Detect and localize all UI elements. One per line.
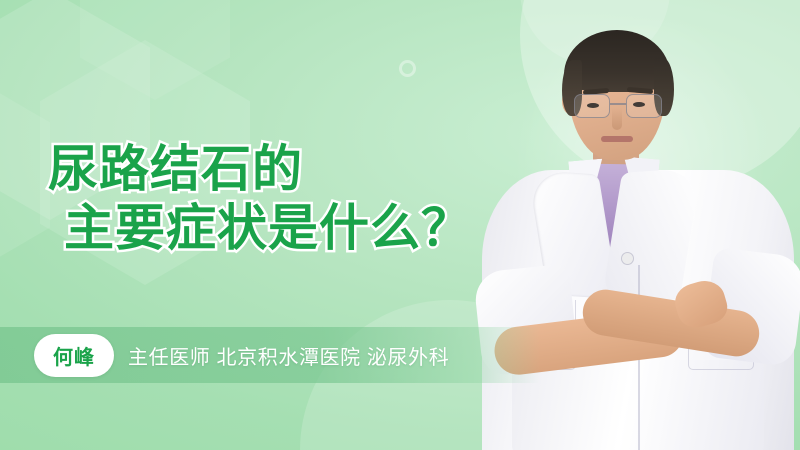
ring-decoration-icon [399, 60, 416, 77]
coat-button [622, 253, 633, 264]
glasses-lens-right [626, 94, 662, 118]
nose [612, 108, 622, 130]
glasses-lens-left [574, 94, 610, 118]
title-line-2: 主要症状是什么？ [48, 199, 568, 258]
banner-title: 尿路结石的 主要症状是什么？ [48, 140, 568, 258]
video-thumbnail-banner: 尿路结石的 主要症状是什么？ 何峰 主任医师 北京积水潭医院 泌尿外科 [0, 0, 800, 450]
title-line-1: 尿路结石的 [48, 140, 568, 199]
doctor-credentials: 主任医师 北京积水潭医院 泌尿外科 [128, 341, 449, 370]
mouth [601, 136, 633, 142]
hexagon-shape [80, 0, 230, 100]
glasses-bridge [610, 103, 626, 105]
credential-content: 何峰 主任医师 北京积水潭医院 泌尿外科 [0, 327, 449, 383]
doctor-name-badge: 何峰 [34, 334, 114, 377]
hexagon-shape [0, 70, 50, 280]
